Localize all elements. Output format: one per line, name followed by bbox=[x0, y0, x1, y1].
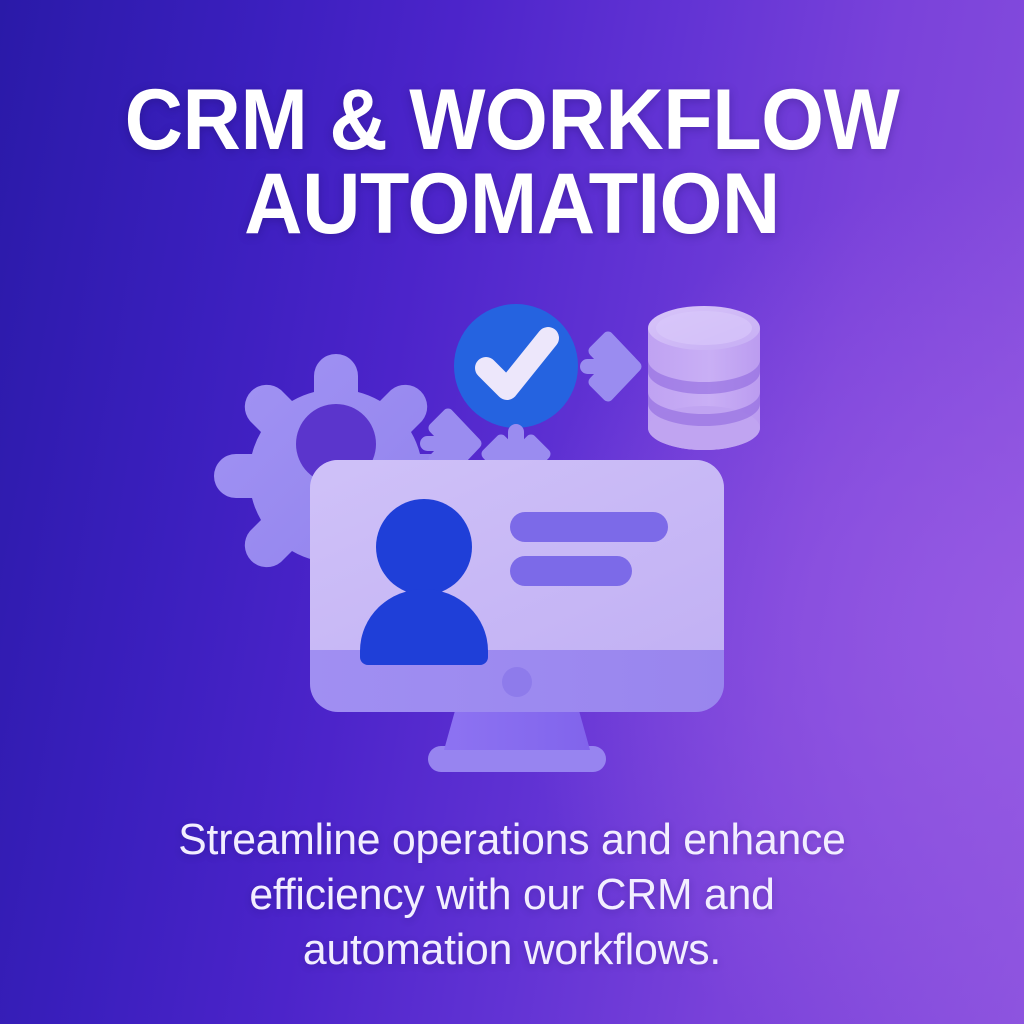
record-bar-2 bbox=[510, 556, 632, 586]
promo-poster: CRM & WORKFLOW AUTOMATION bbox=[0, 0, 1024, 1024]
database-icon bbox=[648, 306, 760, 450]
check-circle-icon bbox=[454, 304, 578, 428]
page-title: CRM & WORKFLOW AUTOMATION bbox=[0, 78, 1024, 247]
subtitle-line-2: efficiency with our CRM and bbox=[117, 867, 907, 922]
subtitle-line-1: Streamline operations and enhance bbox=[117, 812, 907, 867]
illustration bbox=[0, 288, 1024, 798]
title-line-2: AUTOMATION bbox=[68, 162, 955, 246]
record-bar-1 bbox=[510, 512, 668, 542]
title-line-1: CRM & WORKFLOW bbox=[68, 78, 955, 162]
page-subtitle: Streamline operations and enhance effici… bbox=[0, 812, 1024, 977]
arrow-right-icon-2 bbox=[580, 337, 636, 396]
monitor-icon bbox=[310, 460, 724, 772]
subtitle-line-3: automation workflows. bbox=[117, 922, 907, 977]
